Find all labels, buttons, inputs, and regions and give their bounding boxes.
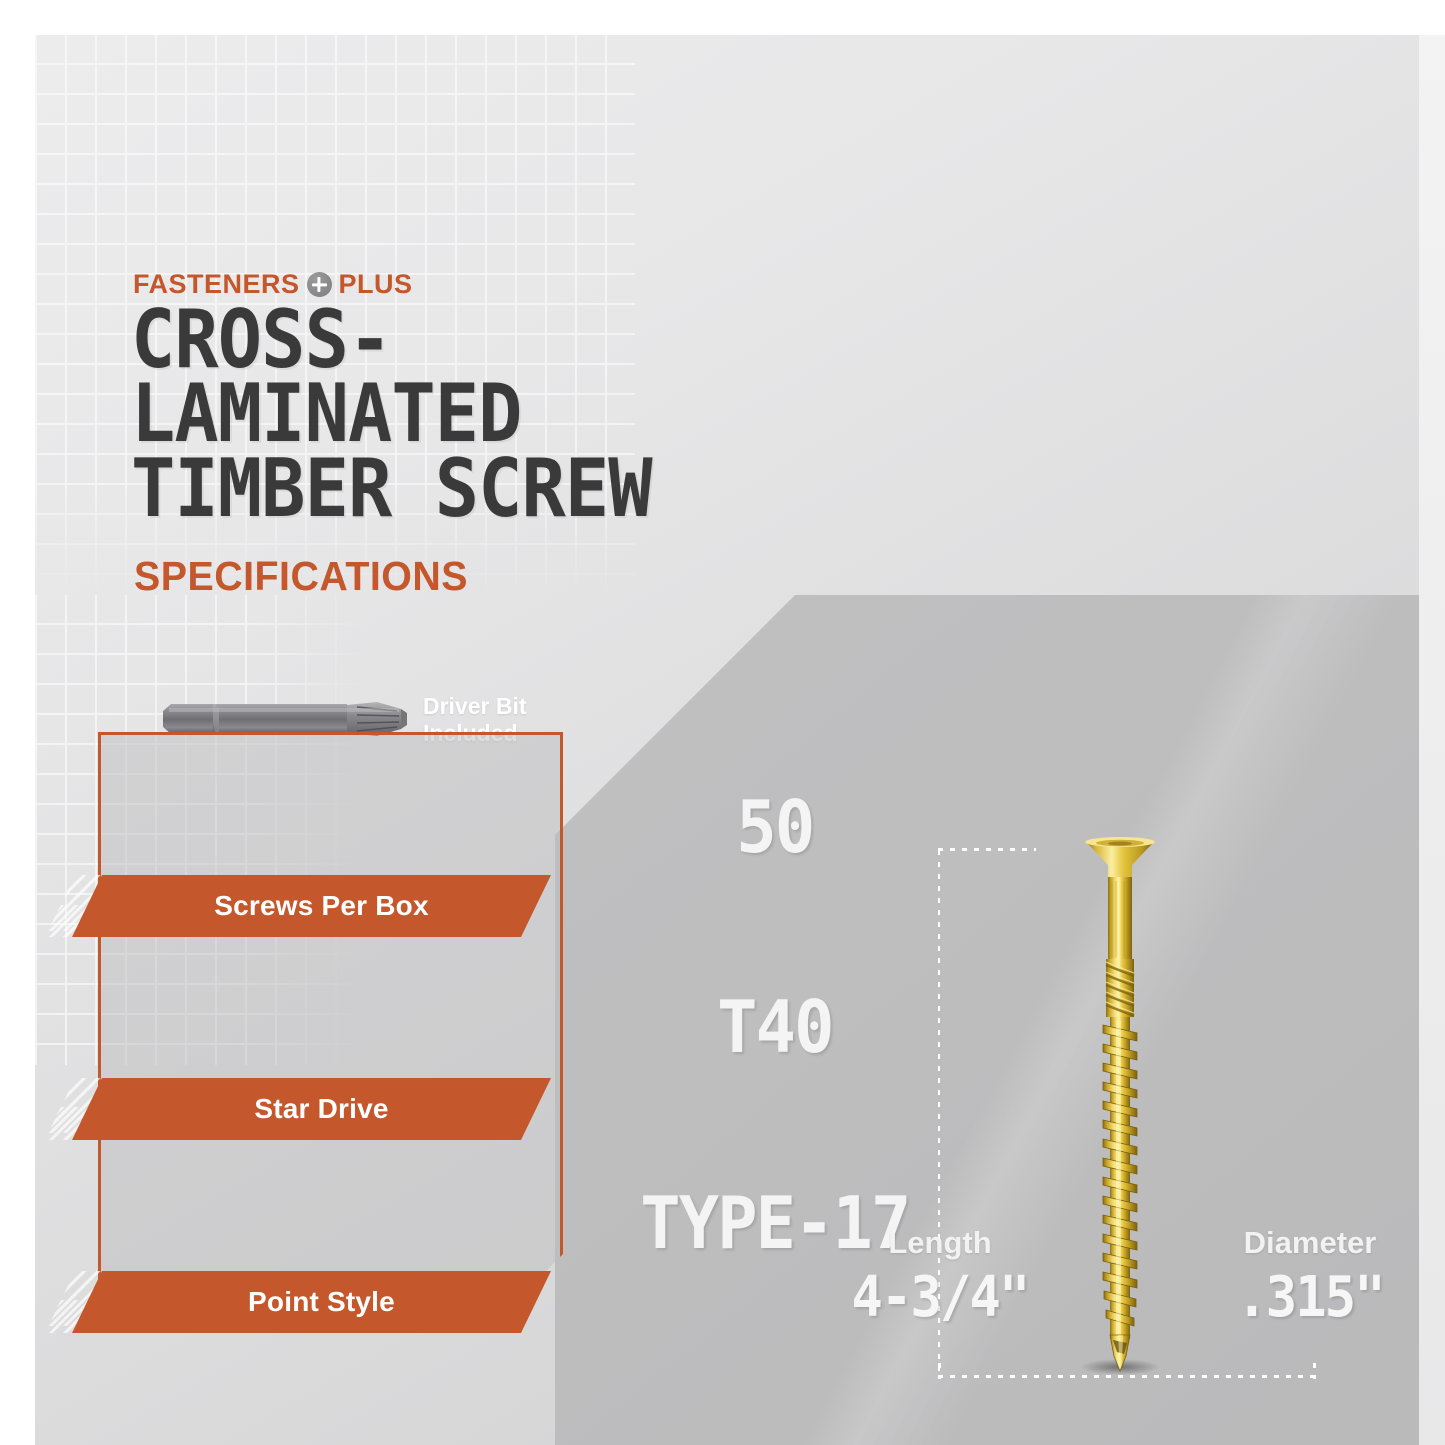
dimension-tick-right [1313,1363,1316,1379]
page-subtitle: SPECIFICATIONS [134,553,468,600]
page-title: CROSS- LAMINATED TIMBER SCREW [131,303,652,526]
content-panel: FASTENERS PLUS CROSS- LAMINATED TIMBER S… [35,35,1445,1445]
dimension-tick-left [938,1363,941,1379]
spec-banner-3: Point Style [72,1271,551,1333]
diameter-value: .315" [1175,1265,1445,1330]
length-value: 4-3/4" [814,1265,1065,1330]
diameter-label: Diameter [1165,1225,1445,1261]
spec-banner-1: Screws Per Box [72,875,551,937]
yellow-zinc-wood-screw-icon [1077,835,1163,1375]
spec-value-1: 50 [84,787,1395,863]
diameter-measurement: Diameter .315" [1165,1225,1445,1330]
dimension-line-bottom [938,1375,1316,1378]
spec-banner-2: Star Drive [72,1078,551,1140]
length-label: Length [805,1225,1075,1261]
infographic-canvas: FASTENERS PLUS CROSS- LAMINATED TIMBER S… [0,0,1445,1445]
spec-label-3: Point Style [248,1286,395,1318]
spec-label-2: Star Drive [254,1093,388,1125]
length-measurement: Length 4-3/4" [805,1225,1075,1330]
dimension-line-top [938,848,1036,851]
spec-label-1: Screws Per Box [214,890,428,922]
spec-value-2: T40 [84,987,1395,1063]
